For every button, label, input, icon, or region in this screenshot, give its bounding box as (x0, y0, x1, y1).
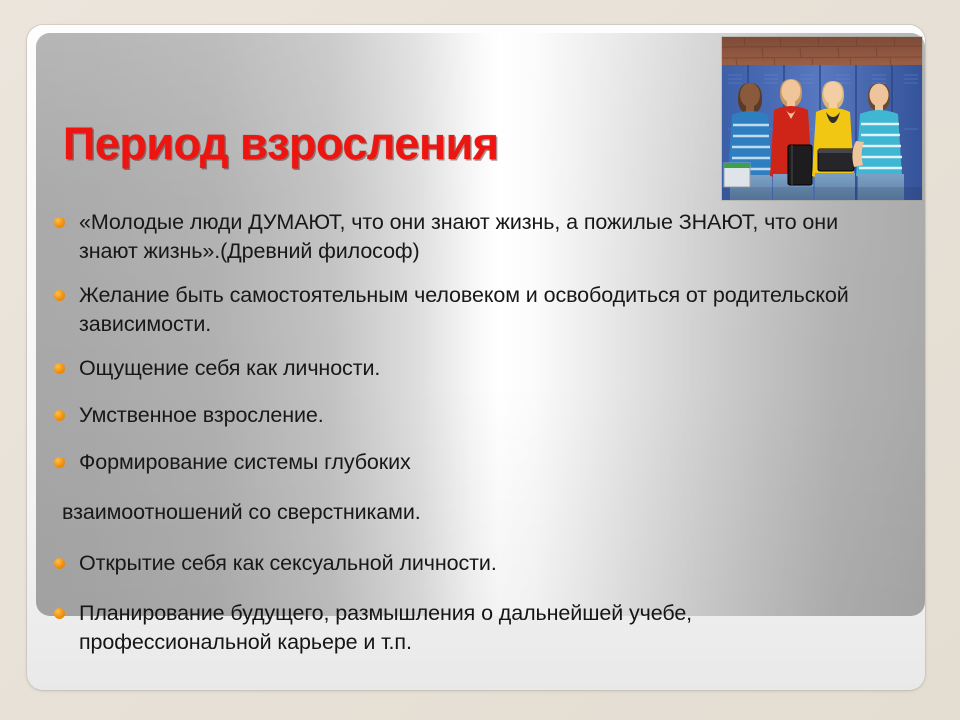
bullet-dot-icon (54, 457, 65, 468)
list-item-text: «Молодые люди ДУМАЮТ, что они знают жизн… (79, 210, 838, 263)
list-item-text: Ощущение себя как личности. (79, 356, 380, 380)
list-item-text: Умственное взросление. (79, 403, 324, 427)
list-item-text: Планирование будущего, размышления о дал… (79, 601, 692, 654)
list-item-text: взаимоотношений со сверстниками. (62, 500, 421, 524)
bullet-dot-icon (54, 608, 65, 619)
bullet-list: «Молодые люди ДУМАЮТ, что они знают жизн… (52, 208, 852, 673)
teenagers-photo (722, 37, 922, 200)
page-title: Период взросления (63, 118, 499, 170)
list-item: «Молодые люди ДУМАЮТ, что они знают жизн… (52, 208, 852, 265)
list-item: Желание быть самостоятельным человеком и… (52, 281, 852, 338)
slide-canvas: Период взросления «Молодые люди ДУМАЮТ, … (0, 0, 960, 720)
list-item-text: Формирование системы глубоких (79, 450, 411, 474)
list-item: Формирование системы глубоких (52, 448, 852, 477)
list-item-text: Желание быть самостоятельным человеком и… (79, 283, 849, 336)
list-item: Открытие себя как сексуальной личности. (52, 549, 852, 578)
list-item: Ощущение себя как личности. (52, 354, 852, 383)
list-item-continuation: взаимоотношений со сверстниками. (52, 498, 852, 527)
list-item-text: Открытие себя как сексуальной личности. (79, 551, 497, 575)
list-item: Умственное взросление. (52, 401, 852, 430)
list-item: Планирование будущего, размышления о дал… (52, 599, 852, 656)
bullet-dot-icon (54, 410, 65, 421)
bullet-dot-icon (54, 217, 65, 228)
bullet-dot-icon (54, 290, 65, 301)
bullet-dot-icon (54, 363, 65, 374)
bullet-dot-icon (54, 558, 65, 569)
